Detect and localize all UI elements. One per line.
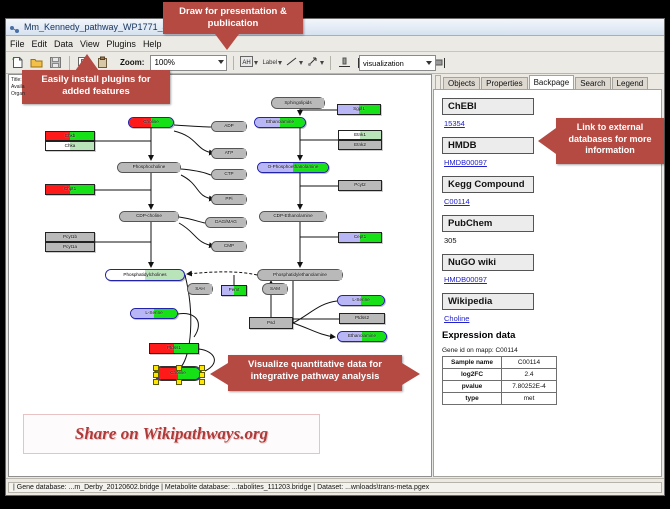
callout-plugins: Easily install plugins for added feature… [22,70,170,104]
menu-item-file[interactable]: File [10,39,25,49]
callout-draw: Draw for presentation & publication [163,2,303,34]
pathway-node-label: SAH [195,287,204,292]
side-panel-tabs: Objects Properties Backpage Search Legen… [433,74,662,89]
tab-properties[interactable]: Properties [481,77,527,89]
pathway-node-sah[interactable]: SAH [187,283,213,295]
pathway-node-etnk1[interactable]: Etnk1 [338,130,382,140]
expr-value-pvalue: 7.80252E-4 [502,381,557,393]
pathway-node-label: L-Serine [145,311,162,316]
pathway-node-etnk2[interactable]: Etnk2 [338,140,382,150]
pathway-node-ptdss2[interactable]: Ptdss2 [339,313,385,324]
pathway-node-l-serine[interactable]: L-Serine [130,308,178,319]
callout-plugins-arrow [75,54,99,71]
pathway-metadata: Title: Availa Organ [11,77,25,98]
callout-visualize: Visualize quantitative data for integrat… [228,355,402,391]
pathway-node-pcyt2[interactable]: Pcyt2 [338,180,382,191]
pathway-node-label: Chka [65,144,76,149]
pathway-node-cdp-choline[interactable]: CDP-choline [119,211,179,222]
pathway-node-label: Ethanolamine [266,120,294,125]
menu-item-help[interactable]: Help [143,39,162,49]
pathway-node-ethanolamine[interactable]: Ethanolamine [337,331,387,342]
resize-handle-se[interactable] [199,379,205,385]
visualization-value: visualization [363,59,404,68]
db-link-kegg-compound[interactable]: C00114 [444,197,661,206]
pathway-node-cept1[interactable]: Cept1 [338,232,382,243]
pathway-node-sam[interactable]: SAM [262,283,288,295]
meta-availability: Availa [11,84,25,91]
pathway-node-sgpl1[interactable]: Sgpl1 [337,104,381,115]
pathway-node-label: Ptdss1 [167,346,181,351]
pathway-node-label: Ptdss2 [355,316,369,321]
resize-handle-sw[interactable] [153,379,159,385]
panel-drag-handle[interactable] [435,75,441,90]
db-header-nugo-wiki: NuGO wiki [442,254,534,271]
line-icon [286,54,298,72]
toolbar-separator-3 [330,56,331,70]
callout-visualize-text: Visualize quantitative data for integrat… [248,359,382,382]
pathway-canvas[interactable]: Title: Availa Organ [8,74,432,477]
pathway-node-label: Etnk1 [354,133,366,138]
pathway-node-ethanolamine[interactable]: Ethanolamine [254,117,306,128]
zoom-label: Zoom: [120,58,144,67]
expr-value-sample-name: C00114 [502,357,557,369]
pathway-node-label: DAG/MAG [215,220,237,225]
pathway-node-choline[interactable]: Choline [128,117,174,128]
callout-link-text: Link to external databases for more info… [568,122,651,155]
pathway-node-phosphocholine[interactable]: Phosphocholine [117,162,181,173]
chevron-down-icon [426,61,432,65]
callout-link: Link to external databases for more info… [556,118,664,164]
pathway-node-psd[interactable]: Psd [249,317,293,329]
menu-bar: File Edit Data View Plugins Help [6,36,664,52]
pathway-node-label: SAM [270,287,280,292]
callout-draw-arrow [215,34,239,50]
receptor-icon [307,54,319,72]
table-row: log2FC 2.4 [443,369,557,381]
expr-value-type: met [502,393,557,405]
tab-legend[interactable]: Legend [612,77,649,89]
db-header-pubchem: PubChem [442,215,534,232]
chevron-down-icon [320,61,324,65]
open-folder-icon[interactable] [29,55,44,70]
share-callout: Share on Wikipathways.org [23,414,320,454]
save-icon[interactable] [48,55,63,70]
meta-title: Title: [11,77,25,84]
resize-handle-e[interactable] [199,372,205,378]
pathway-node-dag-mag[interactable]: DAG/MAG [205,217,247,228]
db-link-wikipedia[interactable]: Choline [444,314,661,323]
tab-search[interactable]: Search [575,77,610,89]
meta-organism: Organ [11,91,25,98]
pathway-node-label: Choline [170,371,186,376]
pathway-node-ctp[interactable]: CTP [211,169,247,180]
pathway-node-label: Chkb [65,134,76,139]
anchor-tool-dropdown[interactable] [307,54,324,72]
expr-key-type: type [443,393,502,405]
pathway-node-label: CDP-Ethanolamine [273,214,312,219]
table-row: type met [443,393,557,405]
db-header-kegg-compound: Kegg Compound [442,176,534,193]
menu-item-plugins[interactable]: Plugins [106,39,136,49]
pathway-node-label: PPi [225,197,232,202]
pathway-node-label: L-Serine [352,298,369,303]
pathway-node-cdp-ethanolamine[interactable]: CDP-Ethanolamine [259,211,327,222]
zoom-value: 100% [154,58,174,67]
pathway-node-ptdss1[interactable]: Ptdss1 [149,343,199,354]
pathway-node-l-serine[interactable]: L-Serine [337,295,385,306]
pathway-node-label: CDP-choline [136,214,162,219]
align-bottom-icon[interactable] [337,55,352,70]
tab-backpage[interactable]: Backpage [529,75,575,89]
menu-item-edit[interactable]: Edit [32,39,48,49]
pathway-node-phosphatidylethanolamine[interactable]: Phosphatidylethanolamine [257,269,343,281]
pathway-node-label: Etnk2 [354,143,366,148]
pathway-node-adp[interactable]: ADP [211,121,247,132]
select-arrow-icon: AH [240,54,253,72]
db-header-hmdb: HMDB [442,137,534,154]
pathway-node-label: Phosphatidylethanolamine [273,273,327,278]
chevron-down-icon [254,61,258,65]
pathway-node-pemt[interactable]: Pemt [221,285,247,296]
resize-handle-nw[interactable] [153,365,159,371]
chevron-down-icon [299,61,303,65]
pathway-node-chpt1[interactable]: Chpt1 [45,184,95,195]
pathway-node-label: Choline [143,120,159,125]
pathway-node-label: Chpt1 [64,187,76,192]
pathway-node-cmp[interactable]: CMP [211,241,247,252]
status-bar: | Gene database: ...m_Derby_20120602.bri… [6,478,664,495]
pathway-node-label: Pcyt2 [354,183,366,188]
expr-key-log2fc: log2FC [443,369,502,381]
pathway-node-label: Sphingolipids [284,101,311,106]
callout-plugins-text: Easily install plugins for added feature… [41,74,150,97]
callout-draw-text: Draw for presentation & publication [179,6,287,29]
pathway-node-pcyt1a[interactable]: Pcyt1a [45,242,95,252]
callout-visualize-arrow-left [210,363,228,385]
callout-link-arrow [538,128,556,154]
pathway-node-pcyt1b[interactable]: Pcyt1b [45,232,95,242]
resize-handle-ne[interactable] [199,365,205,371]
visualization-combobox[interactable]: visualization [359,55,436,71]
new-file-icon[interactable] [10,55,25,70]
db-header-chebi: ChEBI [442,98,534,115]
table-row: pvalue 7.80252E-4 [443,381,557,393]
pathway-node-label: CTP [224,172,233,177]
select-tool-dropdown[interactable]: AH [240,54,258,72]
db-header-wikipedia: Wikipedia [442,293,534,310]
db-value-pubchem: 305 [444,236,661,245]
expression-data-heading: Expression data [442,330,661,341]
tab-objects[interactable]: Objects [443,77,480,89]
table-row: Sample name C00114 [443,357,557,369]
toolbar-separator [69,56,70,70]
menu-item-data[interactable]: Data [54,39,73,49]
pathway-node-label: Pcyt1a [63,245,77,250]
pathway-node-phosphatidylcholines[interactable]: Phosphatidylcholines [105,269,185,281]
pathway-node-label: Cept1 [354,235,366,240]
pathway-node-o-phosphoethanolamine[interactable]: O-Phosphoethanolamine [257,162,329,173]
pathway-node-label: Phosphocholine [133,165,166,170]
pathway-node-label: Phosphatidylcholines [123,273,166,278]
title-bar: Mm_Kennedy_pathway_WP1771_45176.gpml [6,19,664,36]
app-icon [9,22,20,33]
pathway-node-label: Pemt [229,288,240,293]
expr-key-sample-name: Sample name [443,357,502,369]
pathway-node-atp[interactable]: ATP [211,148,247,159]
expr-value-log2fc: 2.4 [502,369,557,381]
pathway-node-label: CMP [224,244,234,249]
chevron-down-icon [218,60,224,64]
resize-handle-s[interactable] [176,379,182,385]
zoom-combobox[interactable]: 100% [150,55,227,71]
pathway-node-label: Sgpl1 [353,107,365,112]
pathway-node-label: Pcyt1b [63,235,77,240]
line-tool-dropdown[interactable] [286,54,303,72]
pathway-node-label: Ethanolamine [348,334,376,339]
menu-item-view[interactable]: View [80,39,99,49]
db-link-nugo-wiki[interactable]: HMDB00097 [444,275,661,284]
label-tool-label: Label [262,60,277,66]
chevron-down-icon [278,61,282,65]
gene-id-on-mapp: Gene id on mapp: C00114 [442,347,661,354]
expression-table: Sample name C00114 log2FC 2.4 pvalue 7.8… [442,356,557,405]
share-callout-text: Share on Wikipathways.org [75,424,268,444]
pathway-node-label: O-Phosphoethanolamine [268,165,319,170]
pathway-node-label: ADP [224,124,233,129]
expr-key-pvalue: pvalue [443,381,502,393]
resize-handle-w[interactable] [153,372,159,378]
callout-visualize-arrow-right [402,363,420,385]
pathway-node-label: Psd [267,321,275,326]
pathway-node-sphingolipids[interactable]: Sphingolipids [271,97,325,109]
pathway-node-label: ATP [225,151,234,156]
status-bar-text: | Gene database: ...m_Derby_20120602.bri… [8,482,662,493]
pathway-node-ppi[interactable]: PPi [211,194,247,205]
pathway-node-chkb[interactable]: Chkb [45,131,95,141]
pathway-node-chka[interactable]: Chka [45,141,95,151]
svg-text:AH: AH [243,60,251,66]
toolbar-separator-2 [233,56,234,70]
label-tool-dropdown[interactable]: Label [262,60,282,66]
